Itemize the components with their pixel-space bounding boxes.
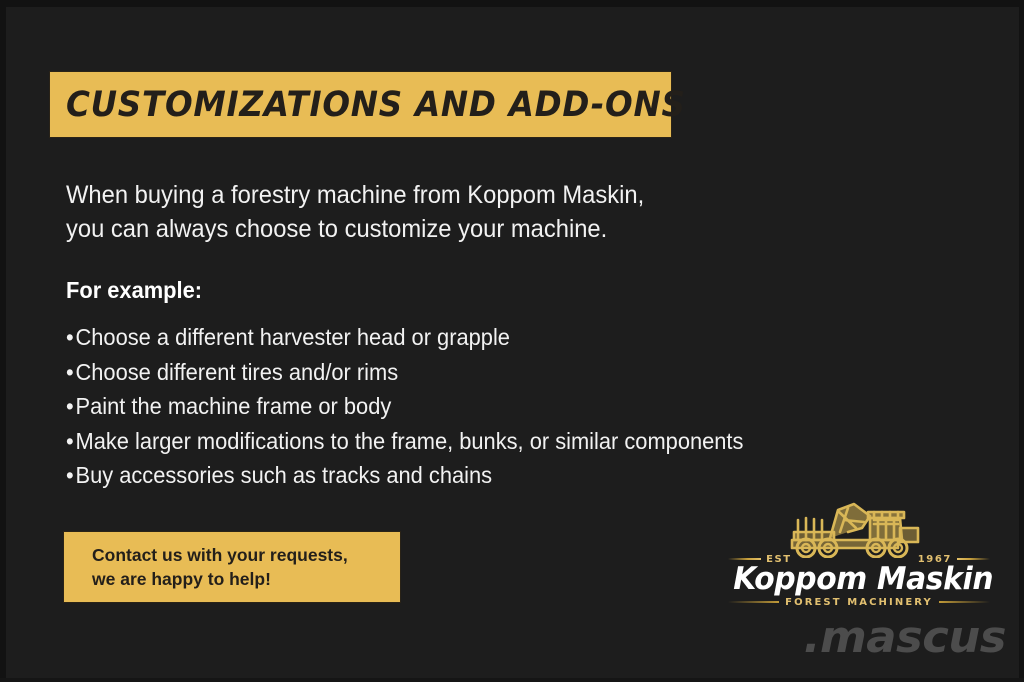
bullet-icon: • [66,389,76,424]
list-item: •Choose a different harvester head or gr… [66,320,855,355]
list-item-label: Buy accessories such as tracks and chain… [76,462,493,488]
logo-tagline-rule-right [939,601,990,603]
customization-options-list: •Choose a different harvester head or gr… [66,320,855,493]
intro-line-2: you can always choose to customize your … [66,212,788,246]
list-item: •Make larger modifications to the frame,… [66,424,855,459]
right-edge-strip [1019,0,1024,682]
list-item: •Buy accessories such as tracks and chai… [66,458,855,493]
advertisement-slide: CUSTOMIZATIONS AND ADD-ONS When buying a… [0,0,1024,682]
page-title: CUSTOMIZATIONS AND ADD-ONS [66,85,686,125]
list-item: •Paint the machine frame or body [66,389,855,424]
bullet-icon: • [66,320,76,355]
logo-rule-left [728,558,761,560]
logo-tagline: FOREST MACHINERY [785,597,933,608]
koppom-maskin-logo: EST 1967 Koppom Maskin FOREST MACHINERY [728,498,990,606]
contact-callout-box[interactable]: Contact us with your requests, we are ha… [64,532,400,602]
logo-tagline-row: FOREST MACHINERY [728,596,990,608]
bullet-icon: • [66,424,76,459]
bullet-icon: • [66,458,76,493]
logo-tagline-rule-left [728,601,779,603]
list-item-label: Choose a different harvester head or gra… [76,324,510,350]
logo-brand-name: Koppom Maskin [733,561,985,597]
bullet-icon: • [66,355,76,390]
logo-rule-right [957,558,990,560]
header-banner: CUSTOMIZATIONS AND ADD-ONS [50,72,671,137]
contact-line-1: Contact us with your requests, [92,543,400,567]
mascus-watermark: .mascus [739,612,1006,663]
list-item: •Choose different tires and/or rims [66,355,855,390]
contact-line-2: we are happy to help! [92,567,400,591]
example-heading: For example: [66,277,202,304]
bottom-edge-strip [0,678,1024,682]
intro-paragraph: When buying a forestry machine from Kopp… [66,178,788,246]
top-edge-strip [0,0,1024,7]
left-edge-strip [0,0,6,682]
intro-line-1: When buying a forestry machine from Kopp… [66,178,788,212]
list-item-label: Make larger modifications to the frame, … [76,428,744,454]
forestry-forwarder-icon [778,498,938,558]
list-item-label: Choose different tires and/or rims [76,359,399,385]
list-item-label: Paint the machine frame or body [76,393,392,419]
